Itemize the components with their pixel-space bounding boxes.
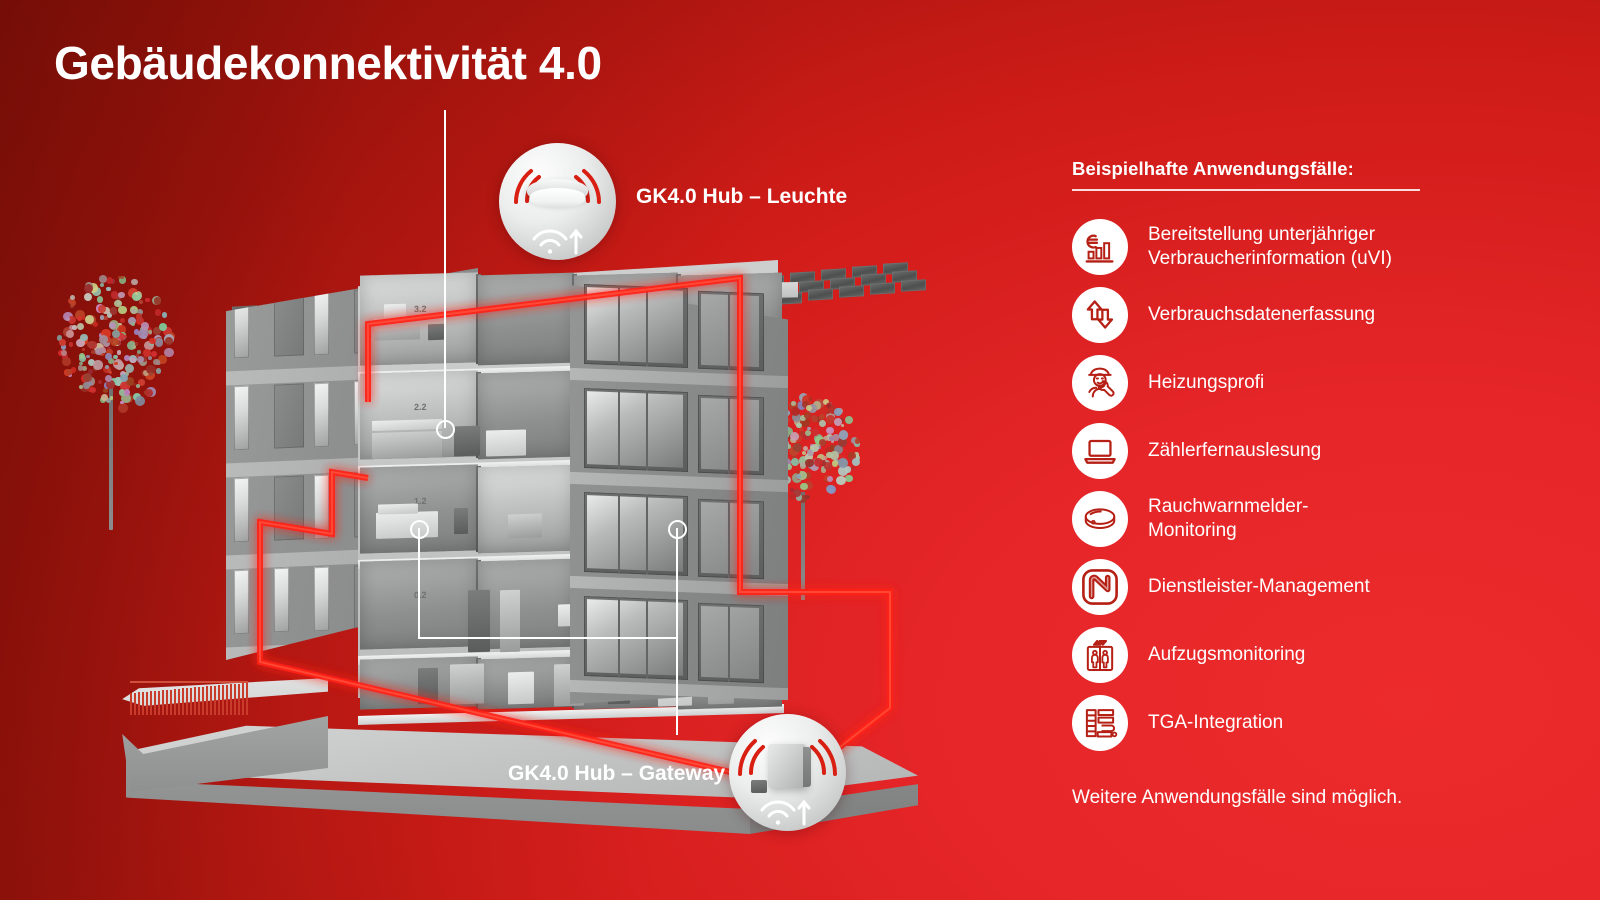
use-cases-list: Bereitstellung unterjährigerVerbraucheri… xyxy=(1072,213,1572,757)
gateway-box-icon xyxy=(768,744,806,788)
facade-balcony-wing xyxy=(570,272,788,704)
use-cases-footnote: Weitere Anwendungsfälle sind möglich. xyxy=(1072,787,1572,809)
use-case-label: Zählerfernauslesung xyxy=(1148,439,1321,463)
use-case-label: Dienstleister-Management xyxy=(1148,575,1370,599)
use-cases-heading: Beispielhafte Anwendungsfälle: xyxy=(1072,158,1572,180)
callout-bubble-leuchte[interactable] xyxy=(499,143,616,260)
page-title: Gebäudekonnektivität 4.0 xyxy=(54,36,602,90)
use-case-item[interactable]: Zählerfernauslesung xyxy=(1072,417,1572,485)
callout-line-gateway-v xyxy=(676,528,678,638)
callout-bubble-gateway[interactable] xyxy=(729,714,846,831)
use-case-item[interactable]: Bereitstellung unterjährigerVerbraucheri… xyxy=(1072,213,1572,281)
use-case-label: Rauchwarnmelder-Monitoring xyxy=(1148,495,1309,543)
technician-wrench-icon xyxy=(1072,355,1128,411)
use-cases-panel: Beispielhafte Anwendungsfälle: Bereitste… xyxy=(1072,158,1572,809)
callout-label-gateway: GK4.0 Hub – Gateway xyxy=(508,762,725,786)
callout-line-gateway-h xyxy=(418,637,678,639)
terrace-railing xyxy=(130,675,250,715)
use-case-item[interactable]: Verbrauchsdatenerfassung xyxy=(1072,281,1572,349)
laptop-icon xyxy=(1072,423,1128,479)
use-case-item[interactable]: Rauchwarnmelder-Monitoring xyxy=(1072,485,1572,553)
elevator-icon xyxy=(1072,627,1128,683)
wifi-uplink-icon xyxy=(529,213,589,257)
up-down-arrows-icon xyxy=(1072,287,1128,343)
use-case-label: Aufzugsmonitoring xyxy=(1148,643,1305,667)
use-case-item[interactable]: Aufzugsmonitoring xyxy=(1072,621,1572,689)
callout-line-basement xyxy=(418,528,420,638)
use-case-item[interactable]: TGA-Integration xyxy=(1072,689,1572,757)
nfc-n-icon xyxy=(1072,559,1128,615)
callout-dot-leuchte xyxy=(436,420,455,439)
callout-dot-gateway xyxy=(668,520,687,539)
use-case-label: Bereitstellung unterjährigerVerbraucheri… xyxy=(1148,223,1392,271)
callout-line-gateway-down xyxy=(676,637,678,735)
use-case-label: Heizungsprofi xyxy=(1148,371,1264,395)
callout-dot-basement xyxy=(410,520,429,539)
callout-line-leuchte xyxy=(444,110,446,428)
use-cases-divider xyxy=(1072,189,1420,191)
use-case-item[interactable]: Heizungsprofi xyxy=(1072,349,1572,417)
use-case-item[interactable]: Dienstleister-Management xyxy=(1072,553,1572,621)
use-case-label: Verbrauchsdatenerfassung xyxy=(1148,303,1375,327)
use-case-label: TGA-Integration xyxy=(1148,711,1283,735)
smoke-detector-icon xyxy=(1072,491,1128,547)
callout-label-leuchte: GK4.0 Hub – Leuchte xyxy=(636,185,847,209)
building-services-icon xyxy=(1072,695,1128,751)
wifi-uplink-icon xyxy=(757,784,817,828)
euro-bar-chart-icon xyxy=(1072,219,1128,275)
